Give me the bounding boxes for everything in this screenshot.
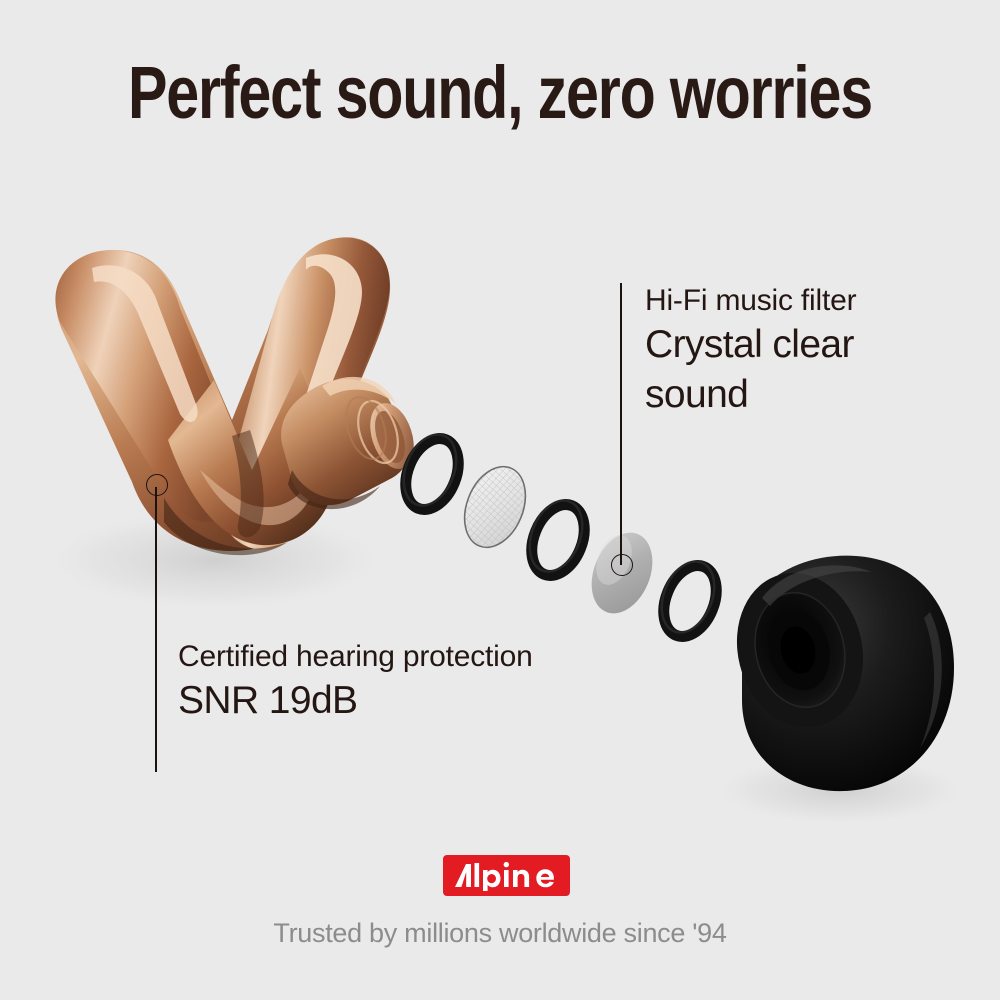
callout-hearing-protection-value: SNR 19dB bbox=[178, 676, 508, 725]
earbud-shadow bbox=[40, 508, 390, 612]
page-title: Perfect sound, zero worries bbox=[100, 56, 900, 130]
leader-dot-hearing-protection bbox=[146, 474, 168, 496]
callout-hi-fi-filter: Hi-Fi music filter Crystal clear sound bbox=[645, 282, 945, 419]
leader-dot-hi-fi-filter bbox=[611, 554, 633, 576]
alpine-logo bbox=[443, 855, 570, 896]
alpine-wordmark bbox=[453, 861, 561, 891]
callout-hearing-protection-label: Certified hearing protection bbox=[178, 638, 508, 676]
o-ring-2 bbox=[520, 493, 594, 584]
ear-tip-shadow bbox=[710, 754, 970, 826]
earbud-body bbox=[55, 237, 390, 555]
product-illustration bbox=[0, 0, 1000, 1000]
o-ring-1 bbox=[394, 427, 468, 518]
earbud-nozzle bbox=[281, 377, 421, 509]
footer-tagline: Trusted by millions worldwide since '94 bbox=[0, 918, 1000, 949]
callout-hi-fi-filter-label: Hi-Fi music filter bbox=[645, 282, 945, 320]
callout-hi-fi-filter-value: Crystal clear sound bbox=[645, 320, 945, 418]
product-infographic: Perfect sound, zero worries bbox=[0, 0, 1000, 1000]
callout-hearing-protection: Certified hearing protection SNR 19dB bbox=[178, 638, 508, 726]
ear-tip bbox=[721, 556, 954, 791]
mesh-filter-disc bbox=[453, 458, 536, 557]
o-ring-3 bbox=[652, 554, 726, 645]
leader-line-hi-fi-filter bbox=[620, 283, 622, 565]
leader-line-hearing-protection bbox=[155, 487, 157, 772]
